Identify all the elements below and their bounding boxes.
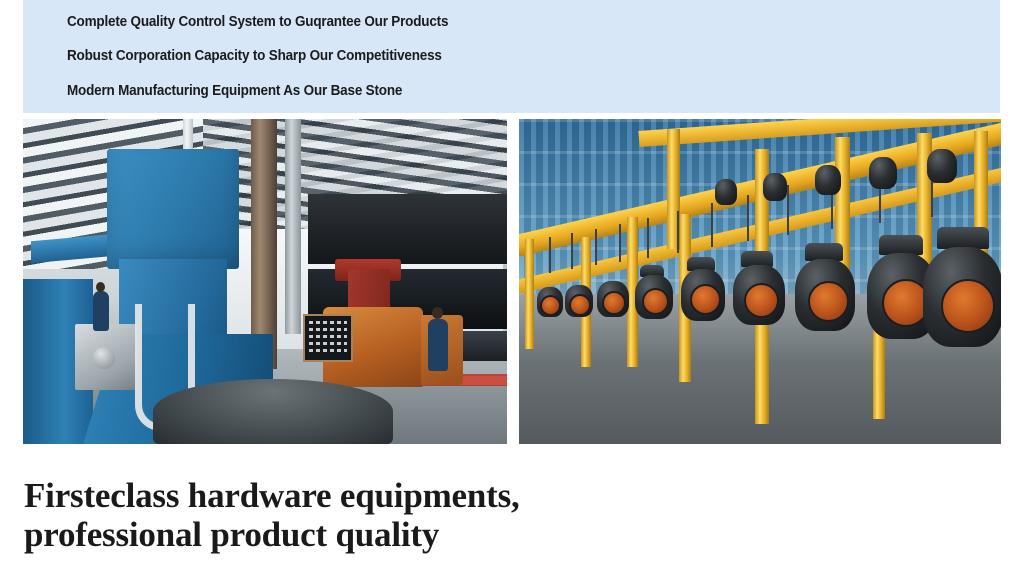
steel-guide-post bbox=[285, 119, 301, 334]
conveyor-hook bbox=[787, 185, 789, 235]
valve-bore bbox=[690, 284, 721, 315]
conveyor-hook bbox=[711, 203, 713, 247]
valve-bore bbox=[808, 281, 849, 322]
valve-body bbox=[869, 157, 897, 189]
conveyor-hook bbox=[595, 229, 597, 265]
conveyor-hook bbox=[619, 224, 621, 262]
rotary-table bbox=[153, 379, 393, 444]
valve-bore bbox=[569, 294, 591, 316]
caption-text: Firsteclass hardware equipments, profess… bbox=[24, 476, 744, 554]
valve-bore bbox=[602, 291, 626, 315]
conveyor-hook bbox=[571, 233, 573, 269]
worker-head bbox=[432, 307, 443, 319]
headline-line-2: Robust Corporation Capacity to Sharp Our… bbox=[67, 48, 442, 64]
gearbox-knob bbox=[93, 347, 115, 369]
worker-figure bbox=[93, 291, 109, 331]
caption-line-2: professional product quality bbox=[24, 515, 744, 554]
headline-line-1: Complete Quality Control System to Guqra… bbox=[67, 14, 448, 30]
conveyor-hook bbox=[677, 211, 679, 253]
board-line bbox=[309, 349, 347, 352]
gantry-post bbox=[525, 239, 534, 349]
workshop-scene bbox=[23, 119, 507, 444]
press-assembly-upper bbox=[308, 194, 507, 264]
valve-body bbox=[815, 165, 841, 195]
worker-head bbox=[96, 282, 105, 292]
worker-figure bbox=[428, 319, 448, 371]
board-line bbox=[309, 328, 347, 331]
headline-line-3: Modern Manufacturing Equipment As Our Ba… bbox=[67, 83, 402, 99]
valve-body bbox=[715, 179, 737, 205]
valve-bore bbox=[941, 279, 995, 333]
headline-banner: Complete Quality Control System to Guqra… bbox=[23, 0, 1000, 113]
valve-body bbox=[763, 173, 787, 201]
conveyor-hook bbox=[549, 237, 551, 273]
valve-bonnet bbox=[879, 235, 923, 255]
valve-bore bbox=[642, 288, 669, 315]
conveyor-hook bbox=[647, 218, 649, 258]
board-line bbox=[309, 335, 347, 338]
board-line bbox=[309, 342, 347, 345]
valve-bore bbox=[540, 295, 561, 316]
machine-head bbox=[107, 149, 239, 269]
valve-line-scene bbox=[519, 119, 1001, 444]
valve-body bbox=[927, 149, 957, 183]
caption-line-1: Firsteclass hardware equipments, bbox=[24, 476, 744, 515]
valve-bonnet bbox=[937, 227, 989, 249]
photo-factory-machining-workshop bbox=[23, 119, 507, 444]
board-line bbox=[309, 321, 347, 324]
conveyor-hook bbox=[747, 195, 749, 241]
rusty-ram-post bbox=[251, 119, 277, 369]
photo-valve-coating-line bbox=[519, 119, 1001, 444]
information-board bbox=[303, 314, 353, 362]
valve-bore bbox=[744, 283, 779, 318]
photo-row bbox=[23, 119, 1001, 444]
